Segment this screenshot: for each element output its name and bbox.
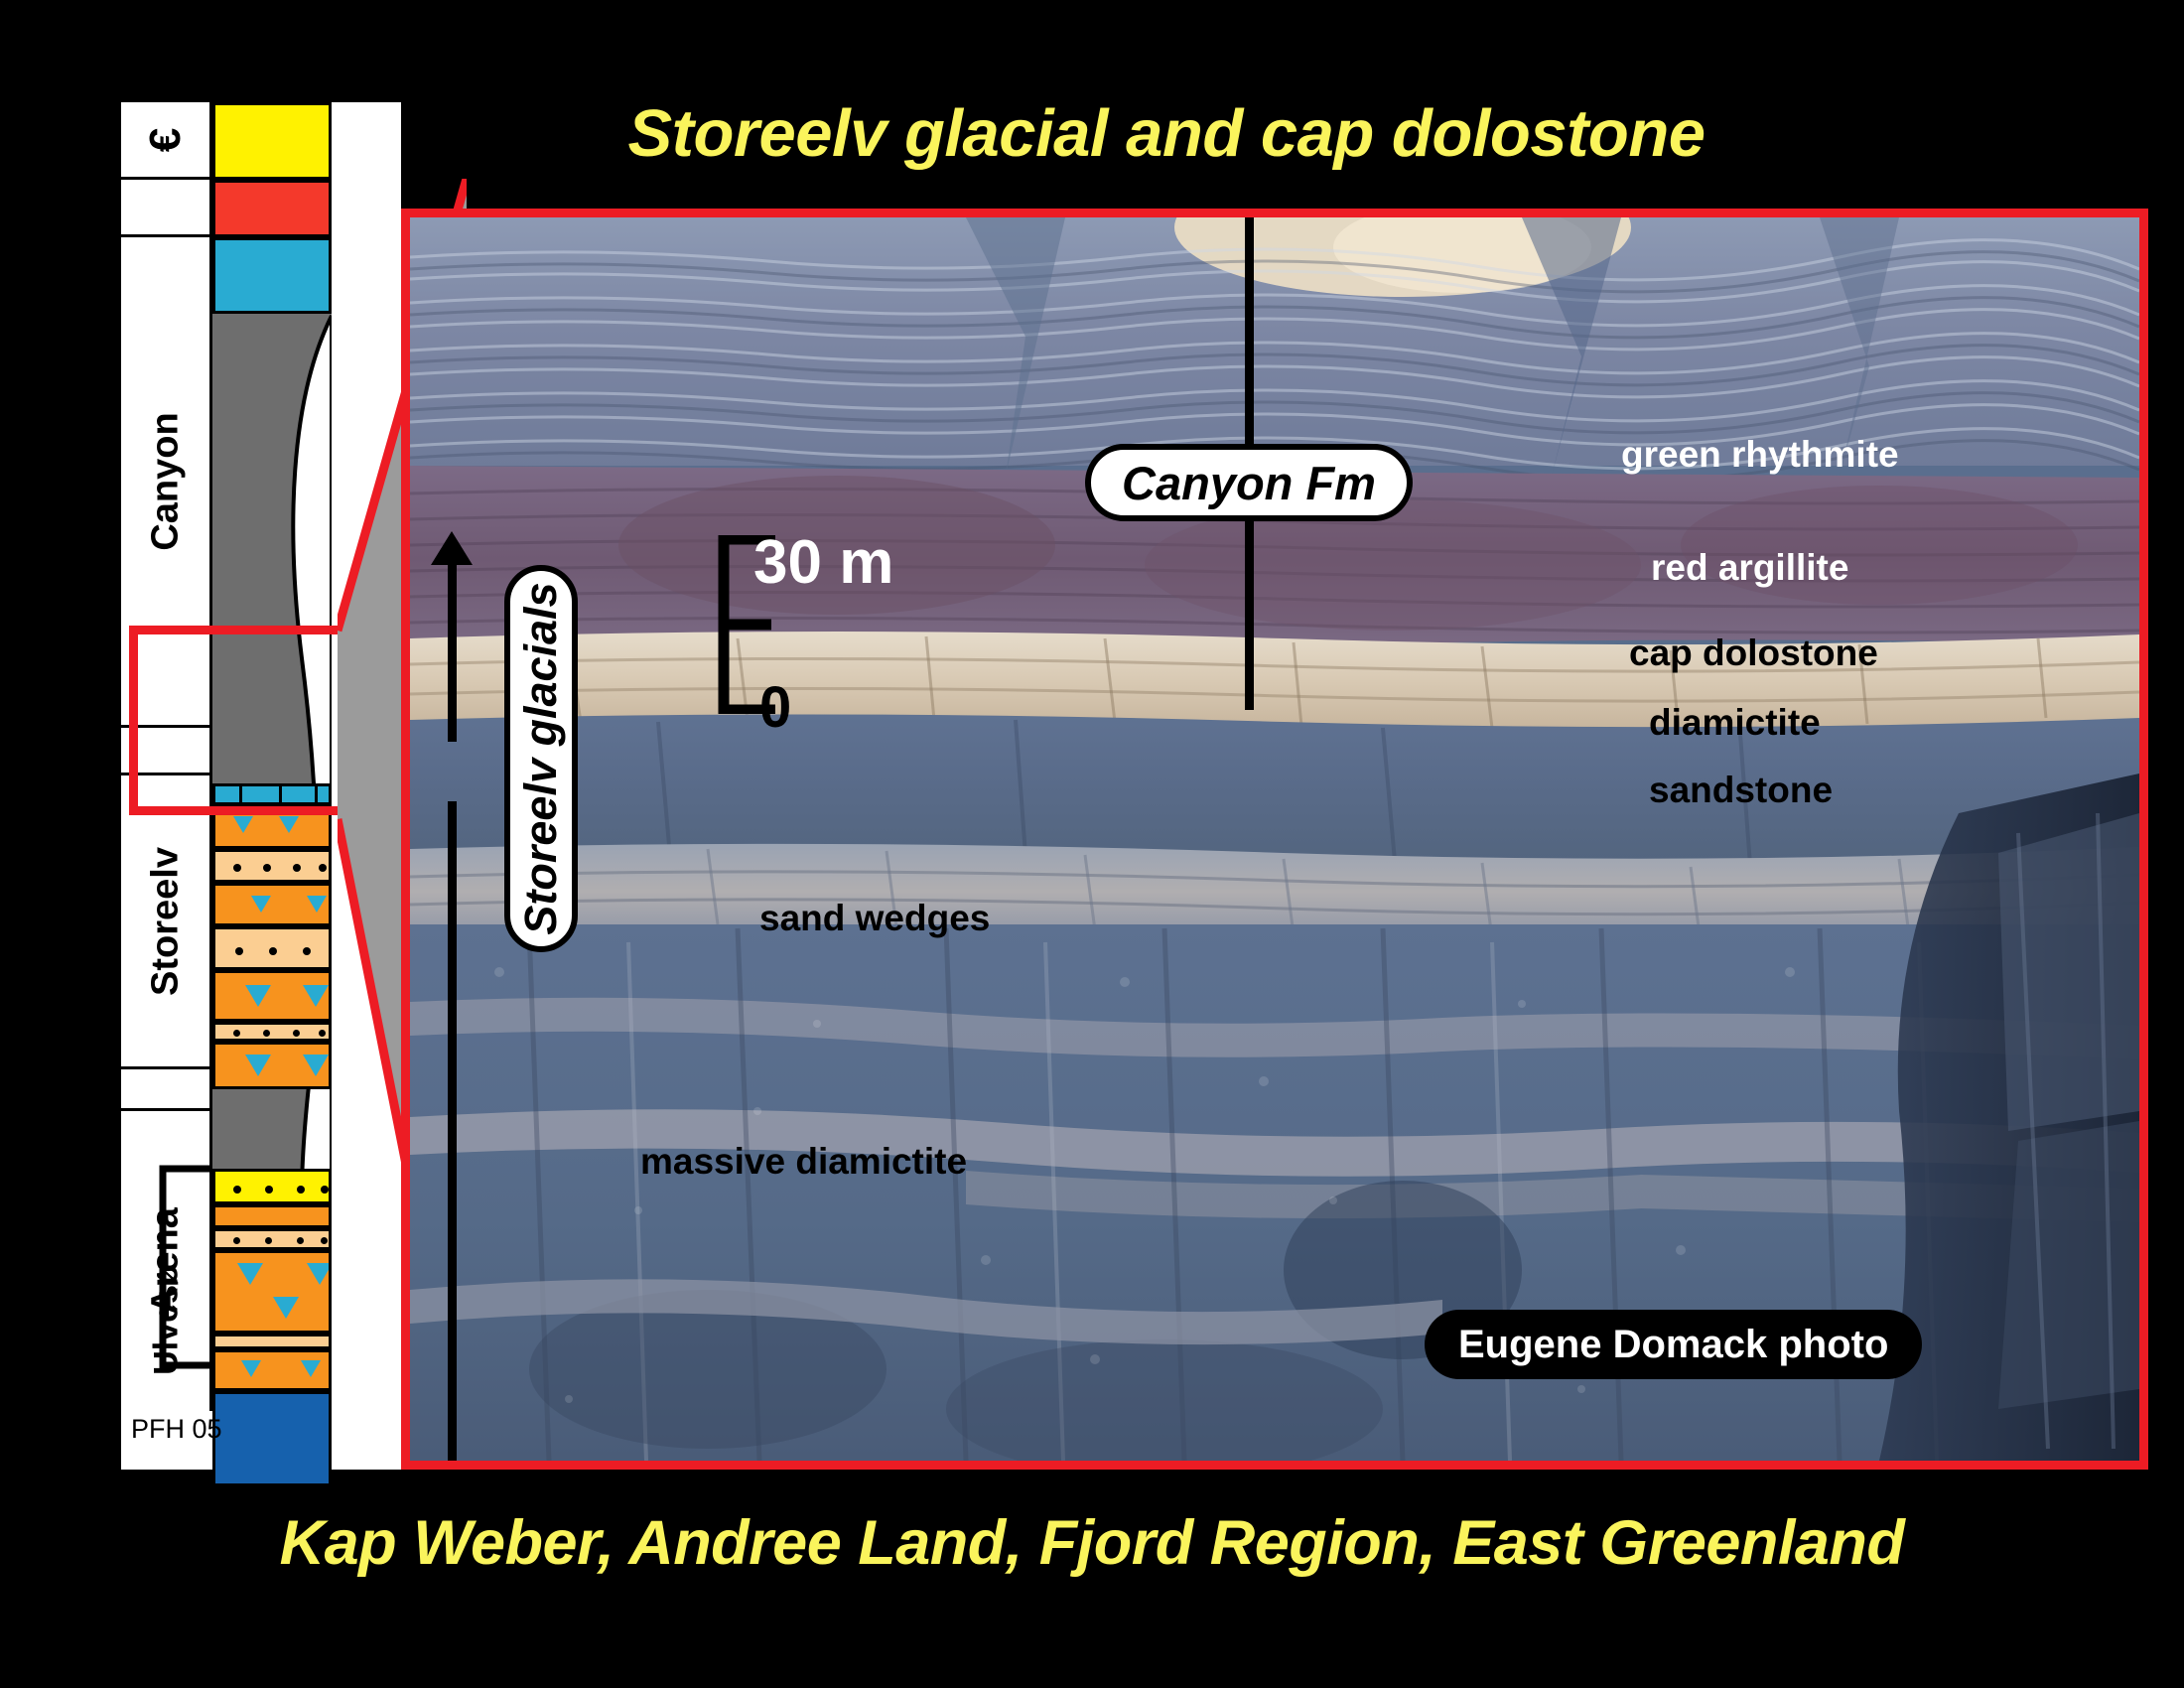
dropstone-icon bbox=[245, 985, 271, 1007]
litho-storeelv-sandstone-2 bbox=[212, 926, 332, 970]
litho-ulveso-yellow bbox=[212, 1169, 332, 1204]
label-green-rhythmite: green rhythmite bbox=[1621, 434, 1899, 476]
formation-label-storeelv: Storeelv bbox=[121, 775, 212, 1069]
callout-storeelv-glacials-label: Storeelv glacials bbox=[515, 582, 567, 934]
callout-canyon-fm-label: Canyon Fm bbox=[1122, 456, 1376, 510]
callout-canyon-fm[interactable]: Canyon Fm bbox=[1085, 444, 1413, 521]
outcrop-photo-image bbox=[410, 217, 2139, 1461]
label-massive-diamictite: massive diamictite bbox=[640, 1141, 967, 1183]
outcrop-photo: 30 m 0 Canyon Fm Storeelv glacials green… bbox=[410, 217, 2139, 1461]
canyon-fm-arrow-line-lower bbox=[1245, 521, 1254, 710]
photo-credit-label: Eugene Domack photo bbox=[1458, 1323, 1888, 1367]
label-sand-wedges: sand wedges bbox=[759, 898, 990, 939]
litho-ulveso-diamictite-3 bbox=[212, 1349, 332, 1391]
litho-storeelv-sandstone-3 bbox=[212, 1022, 332, 1042]
scale-top-label: 30 m bbox=[753, 527, 893, 598]
figure-root: Storeelv glacial and cap dolostone € Can… bbox=[0, 0, 2184, 1688]
litho-storeelv-diamictite-4 bbox=[212, 1042, 332, 1089]
callout-storeelv-glacials[interactable]: Storeelv glacials bbox=[504, 565, 578, 952]
dropstone-icon bbox=[273, 1297, 299, 1319]
page-title-text: Storeelv glacial and cap dolostone bbox=[627, 95, 1705, 172]
storeelv-highlight-box bbox=[129, 626, 352, 815]
litho-storeelv-diamictite-3 bbox=[212, 970, 332, 1022]
dropstone-icon bbox=[233, 816, 253, 833]
litho-ulveso-sandstone-2 bbox=[212, 1334, 332, 1349]
dropstone-icon bbox=[307, 896, 327, 913]
ulveso-bracket bbox=[157, 1165, 210, 1369]
storeelv-arrow-line-lower bbox=[448, 801, 457, 1461]
dropstone-icon bbox=[303, 1055, 329, 1076]
litho-blue-carbonate bbox=[212, 1391, 332, 1486]
label-red-argillite: red argillite bbox=[1651, 547, 1848, 589]
source-label: PFH 05 bbox=[131, 1414, 222, 1445]
dropstone-icon bbox=[251, 896, 271, 913]
litho-red-bed bbox=[212, 180, 332, 237]
dropstone-icon bbox=[307, 1263, 332, 1285]
dropstone-icon bbox=[237, 1263, 263, 1285]
dropstone-icon bbox=[279, 816, 299, 833]
litho-storeelv-diamictite-2 bbox=[212, 883, 332, 926]
label-cap-dolostone: cap dolostone bbox=[1629, 633, 1878, 674]
label-sandstone: sandstone bbox=[1649, 770, 1833, 811]
photo-credit: Eugene Domack photo bbox=[1425, 1310, 1922, 1379]
litho-yellow-carbonate bbox=[212, 102, 332, 180]
formation-label-cambrian: € bbox=[121, 102, 212, 180]
dropstone-icon bbox=[301, 1360, 321, 1377]
storeelv-arrow-line bbox=[448, 543, 457, 742]
litho-cyan-dolostone bbox=[212, 237, 332, 314]
dropstone-icon bbox=[245, 1055, 271, 1076]
scale-bottom-label: 0 bbox=[759, 674, 791, 741]
dropstone-icon bbox=[241, 1360, 261, 1377]
dropstone-icon bbox=[303, 985, 329, 1007]
figure-caption: Kap Weber, Andree Land, Fjord Region, Ea… bbox=[0, 1507, 2184, 1579]
formation-label-gap-lower bbox=[121, 1069, 212, 1111]
litho-storeelv-sandstone-1 bbox=[212, 849, 332, 883]
litho-ulveso-diamictite-2 bbox=[212, 1250, 332, 1334]
storeelv-arrow-head bbox=[431, 531, 473, 565]
litho-ulveso-sandstone-1 bbox=[212, 1228, 332, 1250]
label-diamictite: diamictite bbox=[1649, 702, 1821, 744]
formation-label-unnamed bbox=[121, 180, 212, 237]
litho-ulveso-diamictite-1 bbox=[212, 1204, 332, 1228]
outcrop-photo-frame: 30 m 0 Canyon Fm Storeelv glacials green… bbox=[401, 209, 2148, 1470]
